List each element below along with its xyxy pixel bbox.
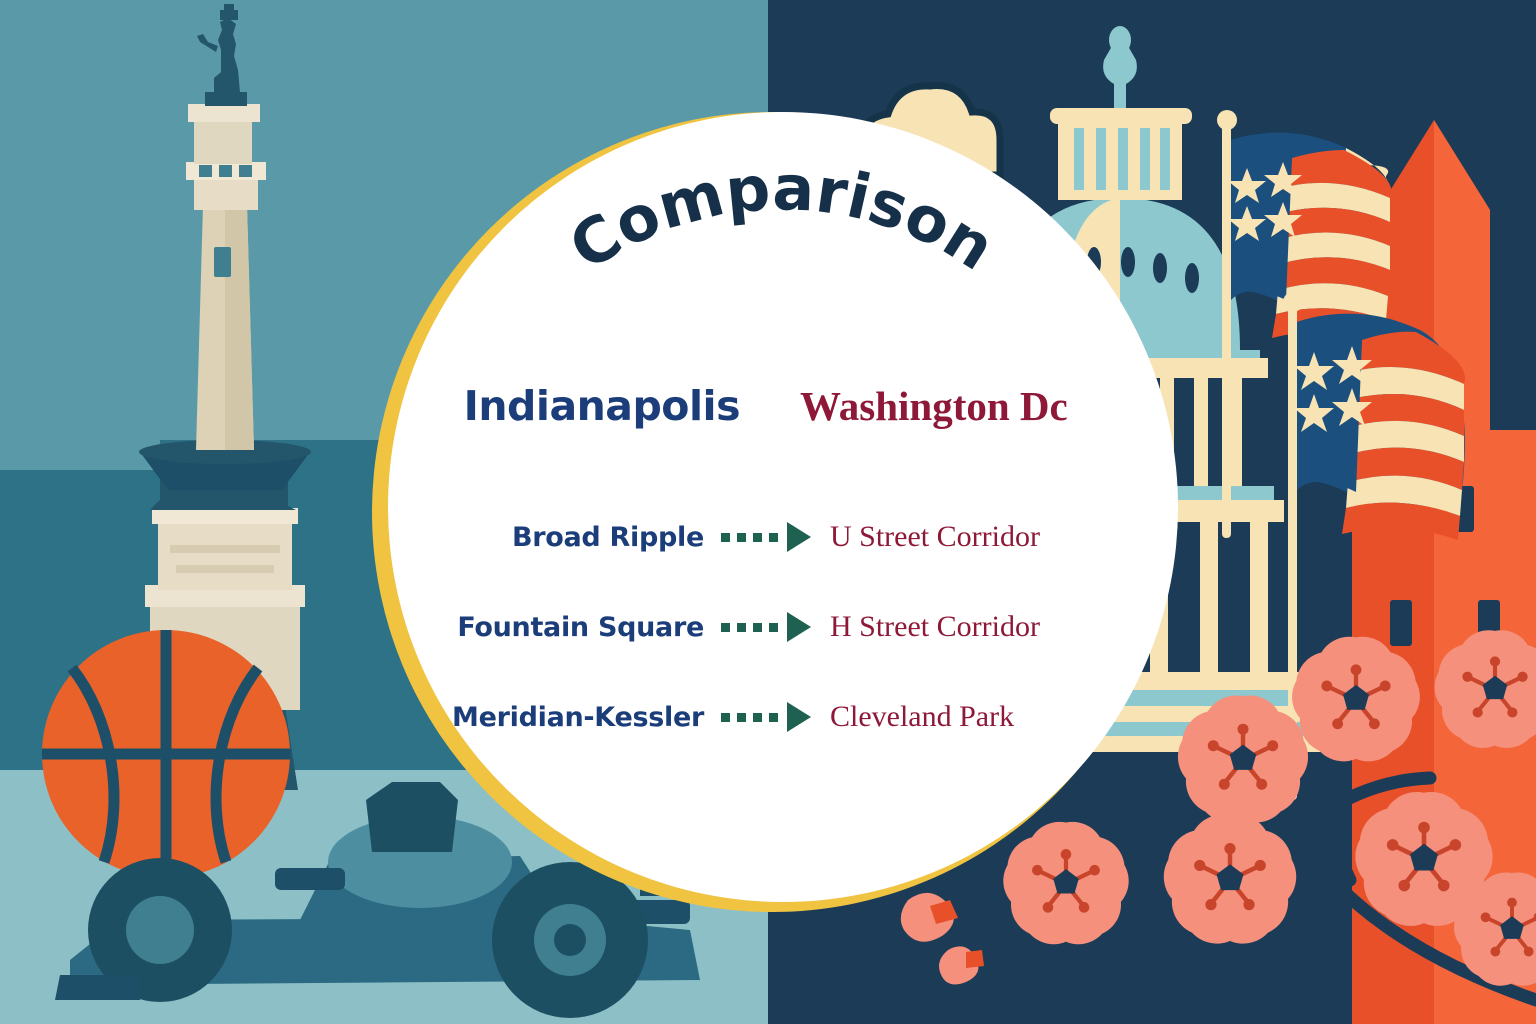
victory-statue xyxy=(197,4,247,106)
arrow-dash xyxy=(769,533,778,542)
arrow-dash xyxy=(737,713,746,722)
infographic-canvas: Neighborhood Comparison Indianapolis Was… xyxy=(0,0,1536,1024)
arrow-dash xyxy=(721,623,730,632)
arrow-dash xyxy=(737,623,746,632)
arrow-dash xyxy=(753,713,762,722)
arrow-head xyxy=(787,522,811,552)
city-header-row: Indianapolis Washington Dc xyxy=(388,378,1178,434)
arrow-dash xyxy=(721,533,730,542)
neighborhood-pair-row: Meridian-Kessler Cleveland Park xyxy=(388,672,1178,762)
monument-window xyxy=(214,247,231,277)
washington-neighborhood: U Street Corridor xyxy=(814,520,1178,554)
arrow-head xyxy=(787,702,811,732)
arrow-dash xyxy=(721,713,730,722)
arrow-head xyxy=(787,612,811,642)
arrow-dash xyxy=(769,623,778,632)
arrow-dash xyxy=(737,533,746,542)
washington-heading: Washington Dc xyxy=(800,382,1178,430)
washington-neighborhood: H Street Corridor xyxy=(814,610,1178,644)
arrow-dash xyxy=(769,713,778,722)
svg-text:Comparison: Comparison xyxy=(557,151,1007,285)
washington-neighborhood: Cleveland Park xyxy=(814,700,1178,734)
arrow-dash xyxy=(753,623,762,632)
neighborhood-pair-row: Fountain Square H Street Corridor xyxy=(388,582,1178,672)
indianapolis-neighborhood: Broad Ripple xyxy=(388,522,718,553)
indianapolis-neighborhood: Fountain Square xyxy=(388,612,718,643)
neighborhood-pair-row: Broad Ripple U Street Corridor xyxy=(388,492,1178,582)
arrow-dash xyxy=(753,533,762,542)
page-title: Neighborhood Comparison xyxy=(400,140,1160,370)
mapping-arrow-icon xyxy=(718,522,814,552)
basketball xyxy=(42,630,290,878)
indianapolis-heading: Indianapolis xyxy=(388,382,758,430)
neighborhood-pairs-list: Broad Ripple U Street Corridor Fountain … xyxy=(388,492,1178,762)
mapping-arrow-icon xyxy=(718,702,814,732)
title-line-2: Comparison xyxy=(557,151,1007,285)
indianapolis-neighborhood: Meridian-Kessler xyxy=(388,702,718,733)
mapping-arrow-icon xyxy=(718,612,814,642)
